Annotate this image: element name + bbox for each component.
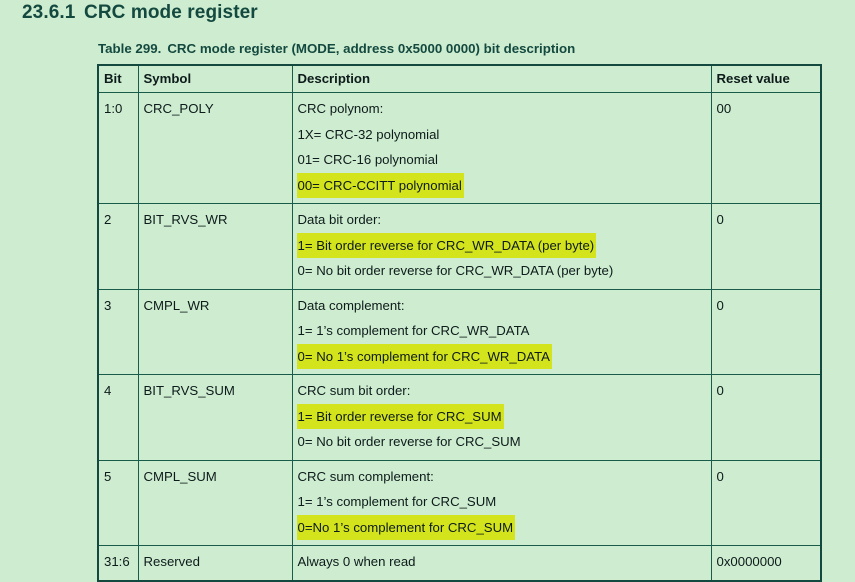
cell-symbol: CRC_POLY: [138, 93, 292, 204]
cell-bit: 31:6: [98, 546, 138, 581]
description-line-highlighted: 1= Bit order reverse for CRC_WR_DATA (pe…: [297, 233, 597, 259]
document-page: 23.6.1CRC mode register Table 299.CRC mo…: [0, 0, 855, 555]
description-line: Data bit order:: [298, 207, 706, 233]
description-line: Data complement:: [298, 293, 706, 319]
description-line: 0= No bit order reverse for CRC_WR_DATA …: [298, 258, 706, 284]
table-body: 1:0CRC_POLYCRC polynom:1X= CRC-32 polyno…: [98, 93, 821, 581]
cell-reset-value: 0x0000000: [711, 546, 821, 581]
section-heading: 23.6.1CRC mode register: [22, 2, 258, 24]
description-line-highlighted: 00= CRC-CCITT polynomial: [297, 173, 464, 199]
description-line: 1= 1’s complement for CRC_SUM: [298, 489, 706, 515]
cell-reset-value: 0: [711, 375, 821, 461]
table-caption-label: Table 299.: [98, 41, 161, 56]
cell-bit: 1:0: [98, 93, 138, 204]
table-header-row: Bit Symbol Description Reset value: [98, 65, 821, 93]
column-header-reset-value: Reset value: [711, 65, 821, 93]
table-row: 2BIT_RVS_WRData bit order:1= Bit order r…: [98, 204, 821, 290]
cell-bit: 5: [98, 460, 138, 546]
description-line: 0= No bit order reverse for CRC_SUM: [298, 429, 706, 455]
column-header-description: Description: [292, 65, 711, 93]
cell-symbol: Reserved: [138, 546, 292, 581]
description-line-highlighted: 1= Bit order reverse for CRC_SUM: [297, 404, 504, 430]
cell-reset-value: 0: [711, 289, 821, 375]
cell-description: CRC sum bit order:1= Bit order reverse f…: [292, 375, 711, 461]
description-line: CRC polynom:: [298, 96, 706, 122]
table-row: 31:6ReservedAlways 0 when read0x0000000: [98, 546, 821, 581]
cell-reset-value: 00: [711, 93, 821, 204]
description-line: Always 0 when read: [298, 549, 706, 575]
cell-symbol: BIT_RVS_SUM: [138, 375, 292, 461]
table-row: 5CMPL_SUMCRC sum complement:1= 1’s compl…: [98, 460, 821, 546]
cell-description: CRC polynom:1X= CRC-32 polynomial01= CRC…: [292, 93, 711, 204]
table-row: 4BIT_RVS_SUMCRC sum bit order:1= Bit ord…: [98, 375, 821, 461]
cell-symbol: BIT_RVS_WR: [138, 204, 292, 290]
description-line-highlighted: 0=No 1’s complement for CRC_SUM: [297, 515, 516, 541]
cell-reset-value: 0: [711, 460, 821, 546]
cell-description: Always 0 when read: [292, 546, 711, 581]
table-row: 1:0CRC_POLYCRC polynom:1X= CRC-32 polyno…: [98, 93, 821, 204]
column-header-symbol: Symbol: [138, 65, 292, 93]
cell-symbol: CMPL_SUM: [138, 460, 292, 546]
column-header-bit: Bit: [98, 65, 138, 93]
cell-symbol: CMPL_WR: [138, 289, 292, 375]
cell-description: CRC sum complement:1= 1’s complement for…: [292, 460, 711, 546]
cell-bit: 4: [98, 375, 138, 461]
cell-bit: 2: [98, 204, 138, 290]
section-number: 23.6.1: [22, 2, 84, 24]
table-caption: Table 299.CRC mode register (MODE, addre…: [98, 41, 575, 56]
cell-reset-value: 0: [711, 204, 821, 290]
table-caption-text: CRC mode register (MODE, address 0x5000 …: [167, 41, 575, 56]
description-line: CRC sum bit order:: [298, 378, 706, 404]
crc-mode-register-table: Bit Symbol Description Reset value 1:0CR…: [97, 64, 822, 582]
section-title: CRC mode register: [84, 2, 258, 23]
register-table-container: Bit Symbol Description Reset value 1:0CR…: [97, 64, 822, 582]
cell-description: Data bit order:1= Bit order reverse for …: [292, 204, 711, 290]
table-row: 3CMPL_WRData complement:1= 1’s complemen…: [98, 289, 821, 375]
cell-bit: 3: [98, 289, 138, 375]
description-line: CRC sum complement:: [298, 464, 706, 490]
description-line-highlighted: 0= No 1’s complement for CRC_WR_DATA: [297, 344, 552, 370]
description-line: 01= CRC-16 polynomial: [298, 147, 706, 173]
cell-description: Data complement:1= 1’s complement for CR…: [292, 289, 711, 375]
description-line: 1= 1’s complement for CRC_WR_DATA: [298, 318, 706, 344]
description-line: 1X= CRC-32 polynomial: [298, 122, 706, 148]
